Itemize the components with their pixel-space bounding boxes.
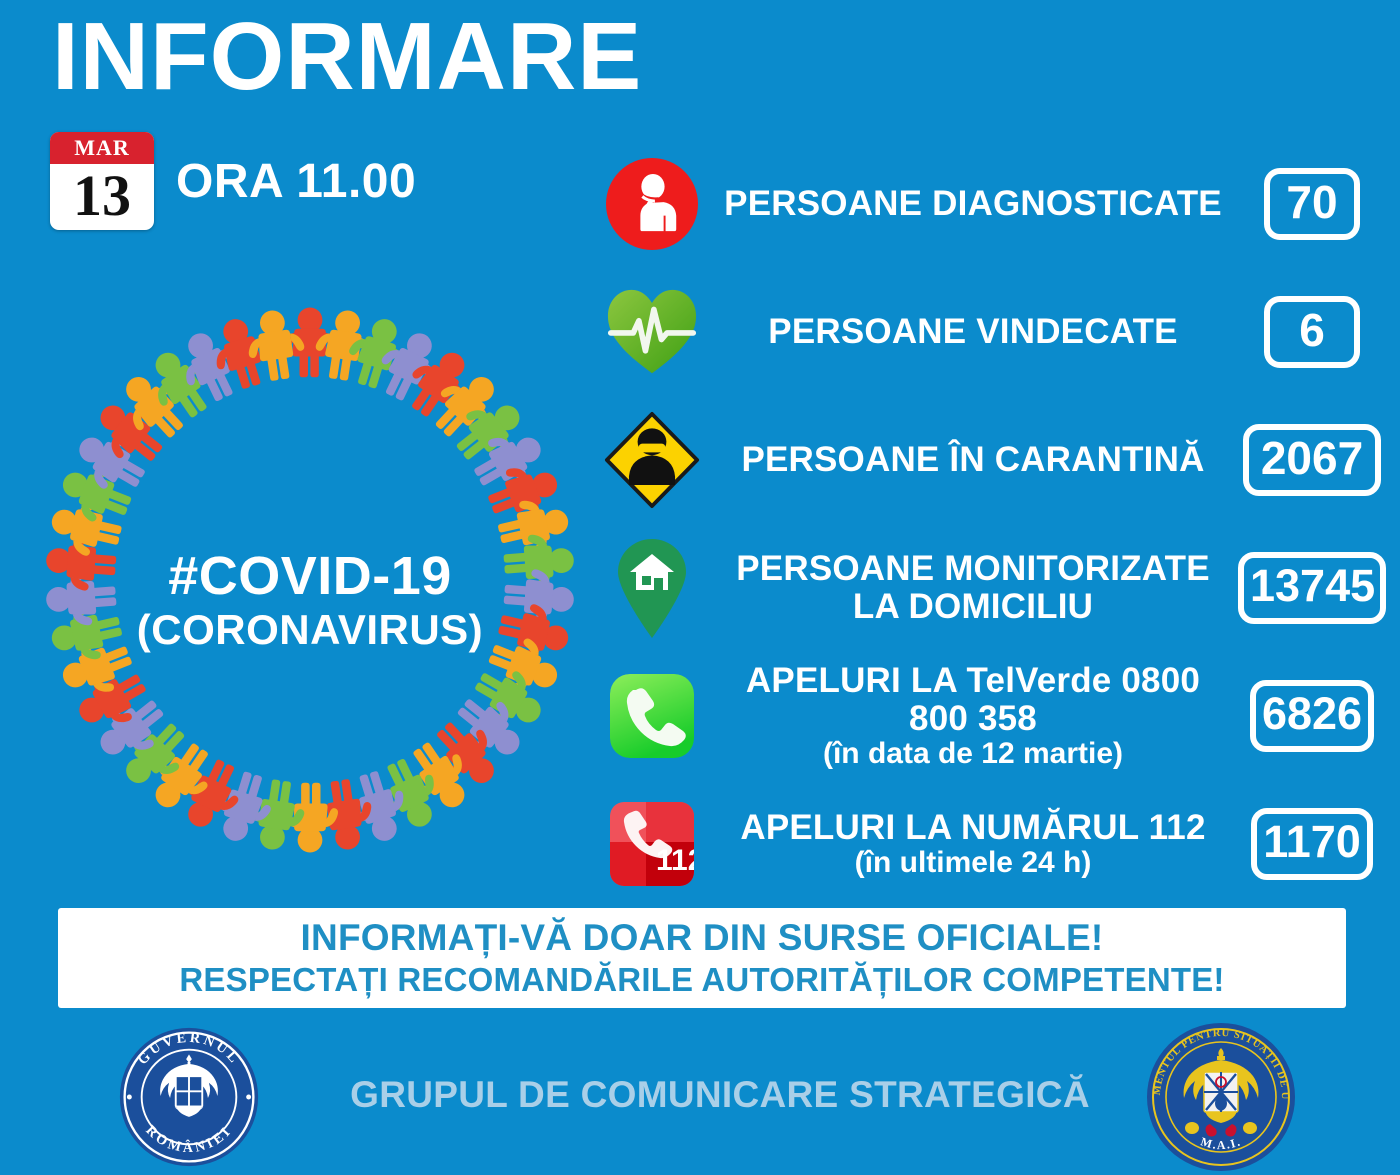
stat-label-main: PERSOANE MONITORIZATE LA DOMICILIU — [714, 550, 1232, 626]
icon-cell — [596, 158, 708, 250]
status-badge-diagnosticate: 70 — [1264, 168, 1360, 240]
icon-cell — [596, 538, 708, 638]
person-coughing-icon — [606, 158, 698, 250]
stat-row-monitorizate: PERSOANE MONITORIZATE LA DOMICILIU 13745 — [596, 524, 1386, 652]
calendar-month: MAR — [50, 132, 154, 164]
quarantine-warning-icon — [604, 411, 700, 509]
status-badge-monitorizate: 13745 — [1238, 552, 1386, 623]
svg-text:112: 112 — [656, 844, 694, 877]
stat-label: APELURI LA TelVerde 0800 800 358 (în dat… — [708, 662, 1238, 770]
emergency-112-icon: 112 — [610, 802, 694, 886]
poster-root: INFORMARE MAR 13 ORA 11.00 #COVID-19 (CO… — [0, 0, 1400, 1175]
home-pin-icon — [616, 538, 688, 638]
stat-row-vindecate: PERSOANE VINDECATE 6 — [596, 268, 1386, 396]
calendar-icon: MAR 13 — [50, 132, 154, 230]
stat-row-diagnosticate: PERSOANE DIAGNOSTICATE 70 — [596, 140, 1386, 268]
status-badge-vindecate: 6 — [1264, 296, 1360, 368]
num-cell: 13745 — [1238, 552, 1386, 623]
num-cell: 2067 — [1238, 424, 1386, 496]
banner-line-2: RESPECTAȚI RECOMANDĂRILE AUTORITĂȚILOR C… — [179, 961, 1224, 999]
num-cell: 6 — [1238, 296, 1386, 368]
footer: GUVERNUL ROMÂNIEI GRUPUL DE COMUNICARE S… — [0, 1020, 1400, 1175]
people-ring-svg — [30, 290, 590, 870]
stats-list: PERSOANE DIAGNOSTICATE 70 — [596, 140, 1386, 908]
covid-people-circle-graphic: #COVID-19 (CORONAVIRUS) — [30, 290, 590, 870]
stat-row-carantina: PERSOANE ÎN CARANTINĂ 2067 — [596, 396, 1386, 524]
stat-label-main: APELURI LA NUMĂRUL 112 — [714, 809, 1232, 847]
green-phone-icon — [610, 674, 694, 758]
dsu-mai-logo: DEPARTAMENTUL PENTRU SITUAȚII DE URGENȚĂ… — [1146, 1020, 1296, 1175]
person-coughing-glyph — [621, 173, 683, 235]
stat-label: PERSOANE DIAGNOSTICATE — [708, 185, 1238, 223]
stat-label-sub: (în ultimele 24 h) — [714, 847, 1232, 879]
stat-label-main: PERSOANE ÎN CARANTINĂ — [714, 441, 1232, 479]
icon-cell — [596, 287, 708, 377]
official-sources-banner: INFORMAȚI-VĂ DOAR DIN SURSE OFICIALE! RE… — [58, 908, 1346, 1008]
stat-label-main: PERSOANE VINDECATE — [714, 313, 1232, 351]
guvernul-romaniei-logo: GUVERNUL ROMÂNIEI — [118, 1024, 260, 1170]
stat-row-telverde: APELURI LA TelVerde 0800 800 358 (în dat… — [596, 652, 1386, 780]
num-cell: 1170 — [1238, 808, 1386, 879]
banner-line-1: INFORMAȚI-VĂ DOAR DIN SURSE OFICIALE! — [301, 917, 1104, 959]
stat-label-main: APELURI LA TelVerde 0800 800 358 — [714, 662, 1232, 738]
calendar-day: 13 — [50, 164, 154, 230]
icon-cell — [596, 411, 708, 509]
stat-label: PERSOANE ÎN CARANTINĂ — [708, 441, 1238, 479]
page-title: INFORMARE — [52, 4, 642, 110]
time-label: ORA 11.00 — [176, 154, 416, 209]
num-cell: 70 — [1238, 168, 1386, 240]
stat-label-main: PERSOANE DIAGNOSTICATE — [714, 185, 1232, 223]
status-badge-telverde: 6826 — [1250, 680, 1374, 751]
stat-label-sub: (în data de 12 martie) — [714, 738, 1232, 770]
icon-cell: 112 — [596, 802, 708, 886]
stat-row-112: 112 APELURI LA NUMĂRUL 112 (în ultimele … — [596, 780, 1386, 908]
stat-label: PERSOANE MONITORIZATE LA DOMICILIU — [708, 550, 1238, 626]
footer-org-name: GRUPUL DE COMUNICARE STRATEGICĂ — [300, 1074, 1140, 1116]
status-badge-carantina: 2067 — [1243, 424, 1381, 496]
icon-cell — [596, 674, 708, 758]
heart-pulse-icon — [605, 287, 699, 377]
num-cell: 6826 — [1238, 680, 1386, 751]
status-badge-112: 1170 — [1251, 808, 1373, 879]
date-time-bar: MAR 13 ORA 11.00 — [50, 132, 416, 230]
stat-label: PERSOANE VINDECATE — [708, 313, 1238, 351]
stat-label: APELURI LA NUMĂRUL 112 (în ultimele 24 h… — [708, 809, 1238, 879]
